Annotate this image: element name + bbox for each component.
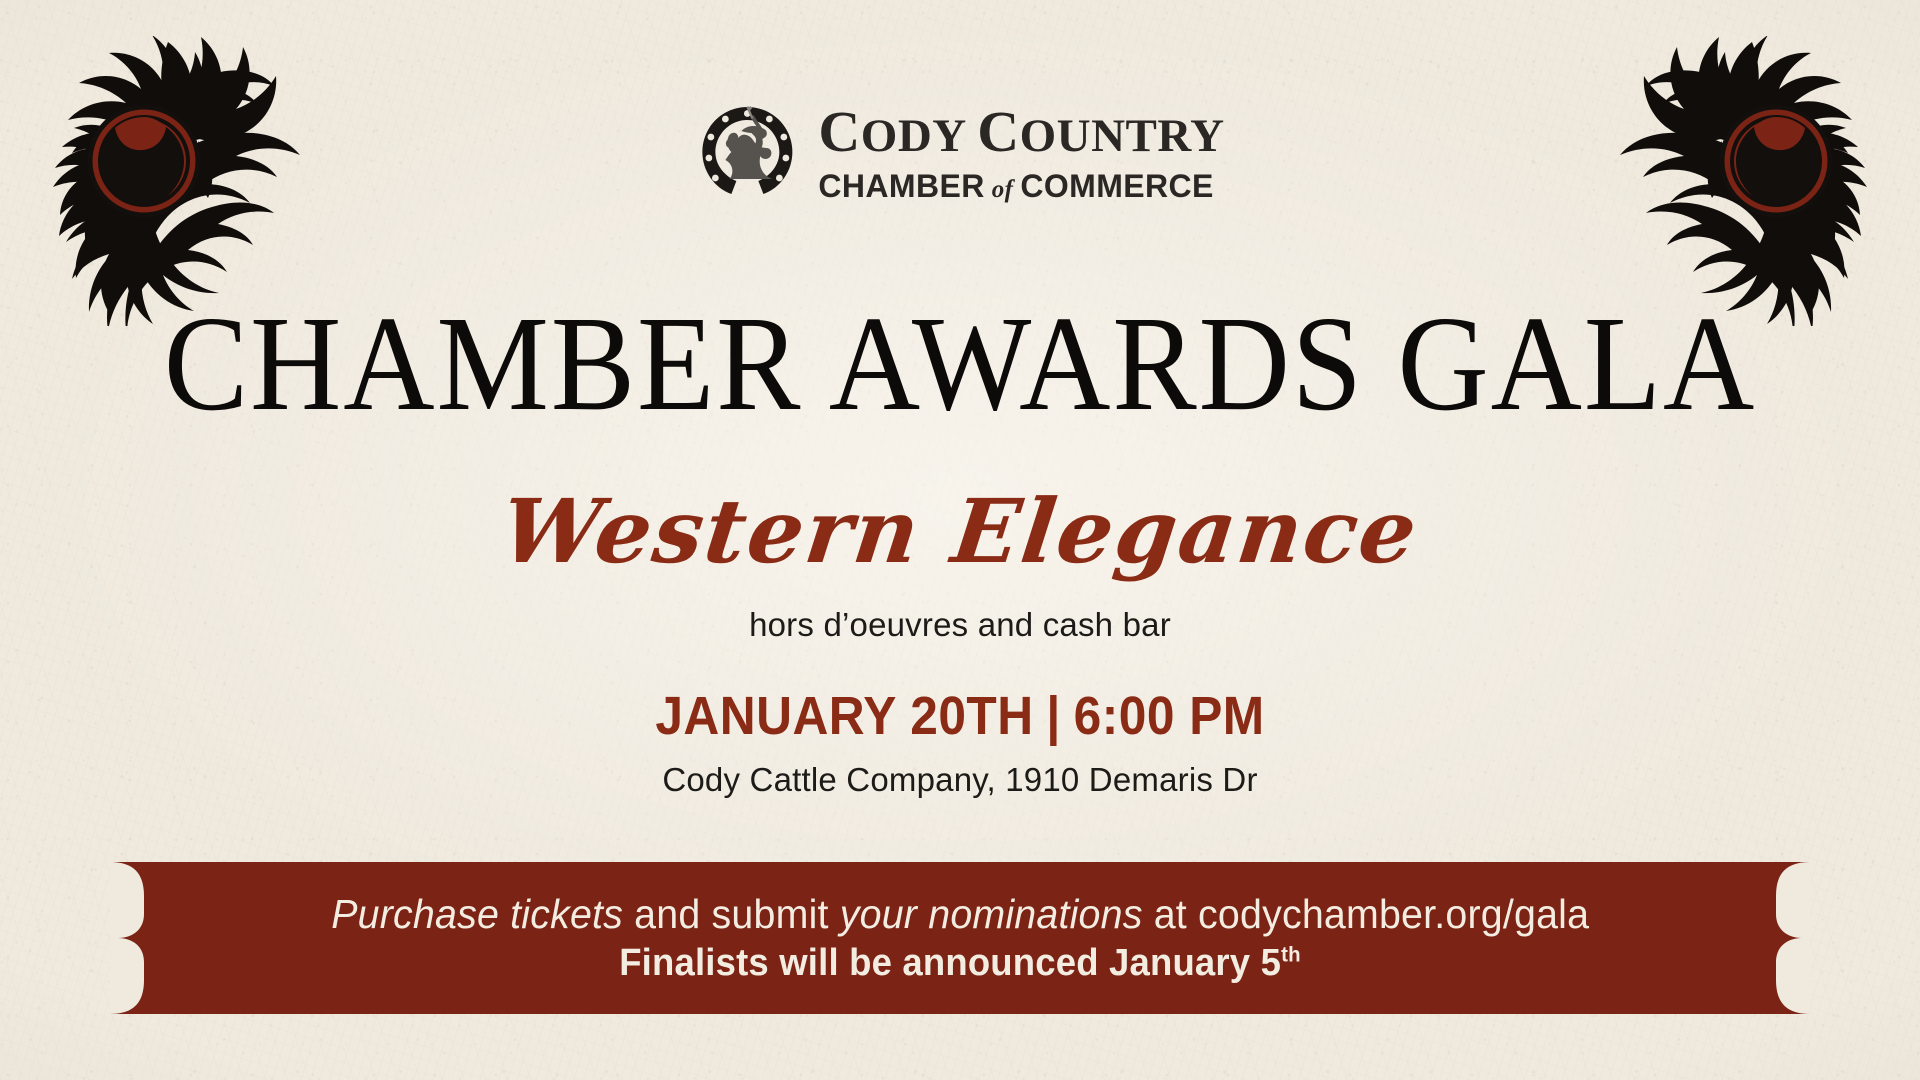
- logo-word-commerce: COMMERCE: [1020, 170, 1213, 202]
- banner-line-primary: Purchase tickets and submit your nominat…: [331, 891, 1589, 938]
- event-time: 6:00 PM: [1074, 686, 1265, 746]
- logo-cap-c1: C: [818, 99, 860, 164]
- logo-line-chamber-of-commerce: CHAMBER of COMMERCE: [818, 170, 1224, 202]
- banner-seg-purchase-tickets: urchase tickets: [357, 891, 622, 937]
- theme-script-heading: Western Elegance: [0, 487, 1920, 575]
- logo-word-chamber: CHAMBER: [818, 170, 984, 202]
- event-venue: Cody Cattle Company, 1910 Demaris Dr: [0, 761, 1920, 799]
- event-date: JANUARY 20TH: [655, 686, 1033, 746]
- gala-poster: CODY COUNTRY CHAMBER of COMMERCE CHAMBER…: [0, 0, 1920, 1080]
- banner-line-secondary: Finalists will be announced January 5th: [619, 942, 1301, 985]
- ornament-medallion: [90, 107, 198, 215]
- logo-word-of: of: [992, 177, 1014, 202]
- banner-seg-url: at codychamber.org/gala: [1142, 891, 1589, 937]
- datetime-separator: |: [1034, 685, 1074, 747]
- filigree-ornament-right: [1562, 36, 1892, 326]
- logo-line-cody-country: CODY COUNTRY: [818, 103, 1224, 161]
- chamber-logo-text: CODY COUNTRY CHAMBER of COMMERCE: [818, 103, 1224, 202]
- banner-finalists-text: Finalists will be announced January 5: [619, 942, 1281, 984]
- logo-cap-c2: C: [977, 99, 1019, 164]
- logo-word-cody: ODY: [861, 110, 965, 162]
- banner-seg-your-nominations: your nominations: [840, 891, 1143, 937]
- filigree-ornament-left: [28, 36, 358, 326]
- call-to-action-banner: Purchase tickets and submit your nominat…: [110, 862, 1810, 1014]
- banner-text-block: Purchase tickets and submit your nominat…: [110, 862, 1810, 1014]
- page-title: CHAMBER AWARDS GALA: [67, 296, 1853, 432]
- banner-ordinal-suffix: th: [1281, 942, 1301, 966]
- event-datetime: JANUARY 20TH|6:00 PM: [77, 685, 1843, 747]
- theme-subtitle: hors d’oeuvres and cash bar: [0, 606, 1920, 644]
- logo-word-country: OUNTRY: [1020, 110, 1225, 162]
- banner-seg-and-submit: and submit: [623, 891, 840, 937]
- banner-seg-p: P: [331, 891, 357, 937]
- bucking-horse-horseshoe-icon: [695, 100, 799, 204]
- chamber-logo: CODY COUNTRY CHAMBER of COMMERCE: [695, 100, 1224, 204]
